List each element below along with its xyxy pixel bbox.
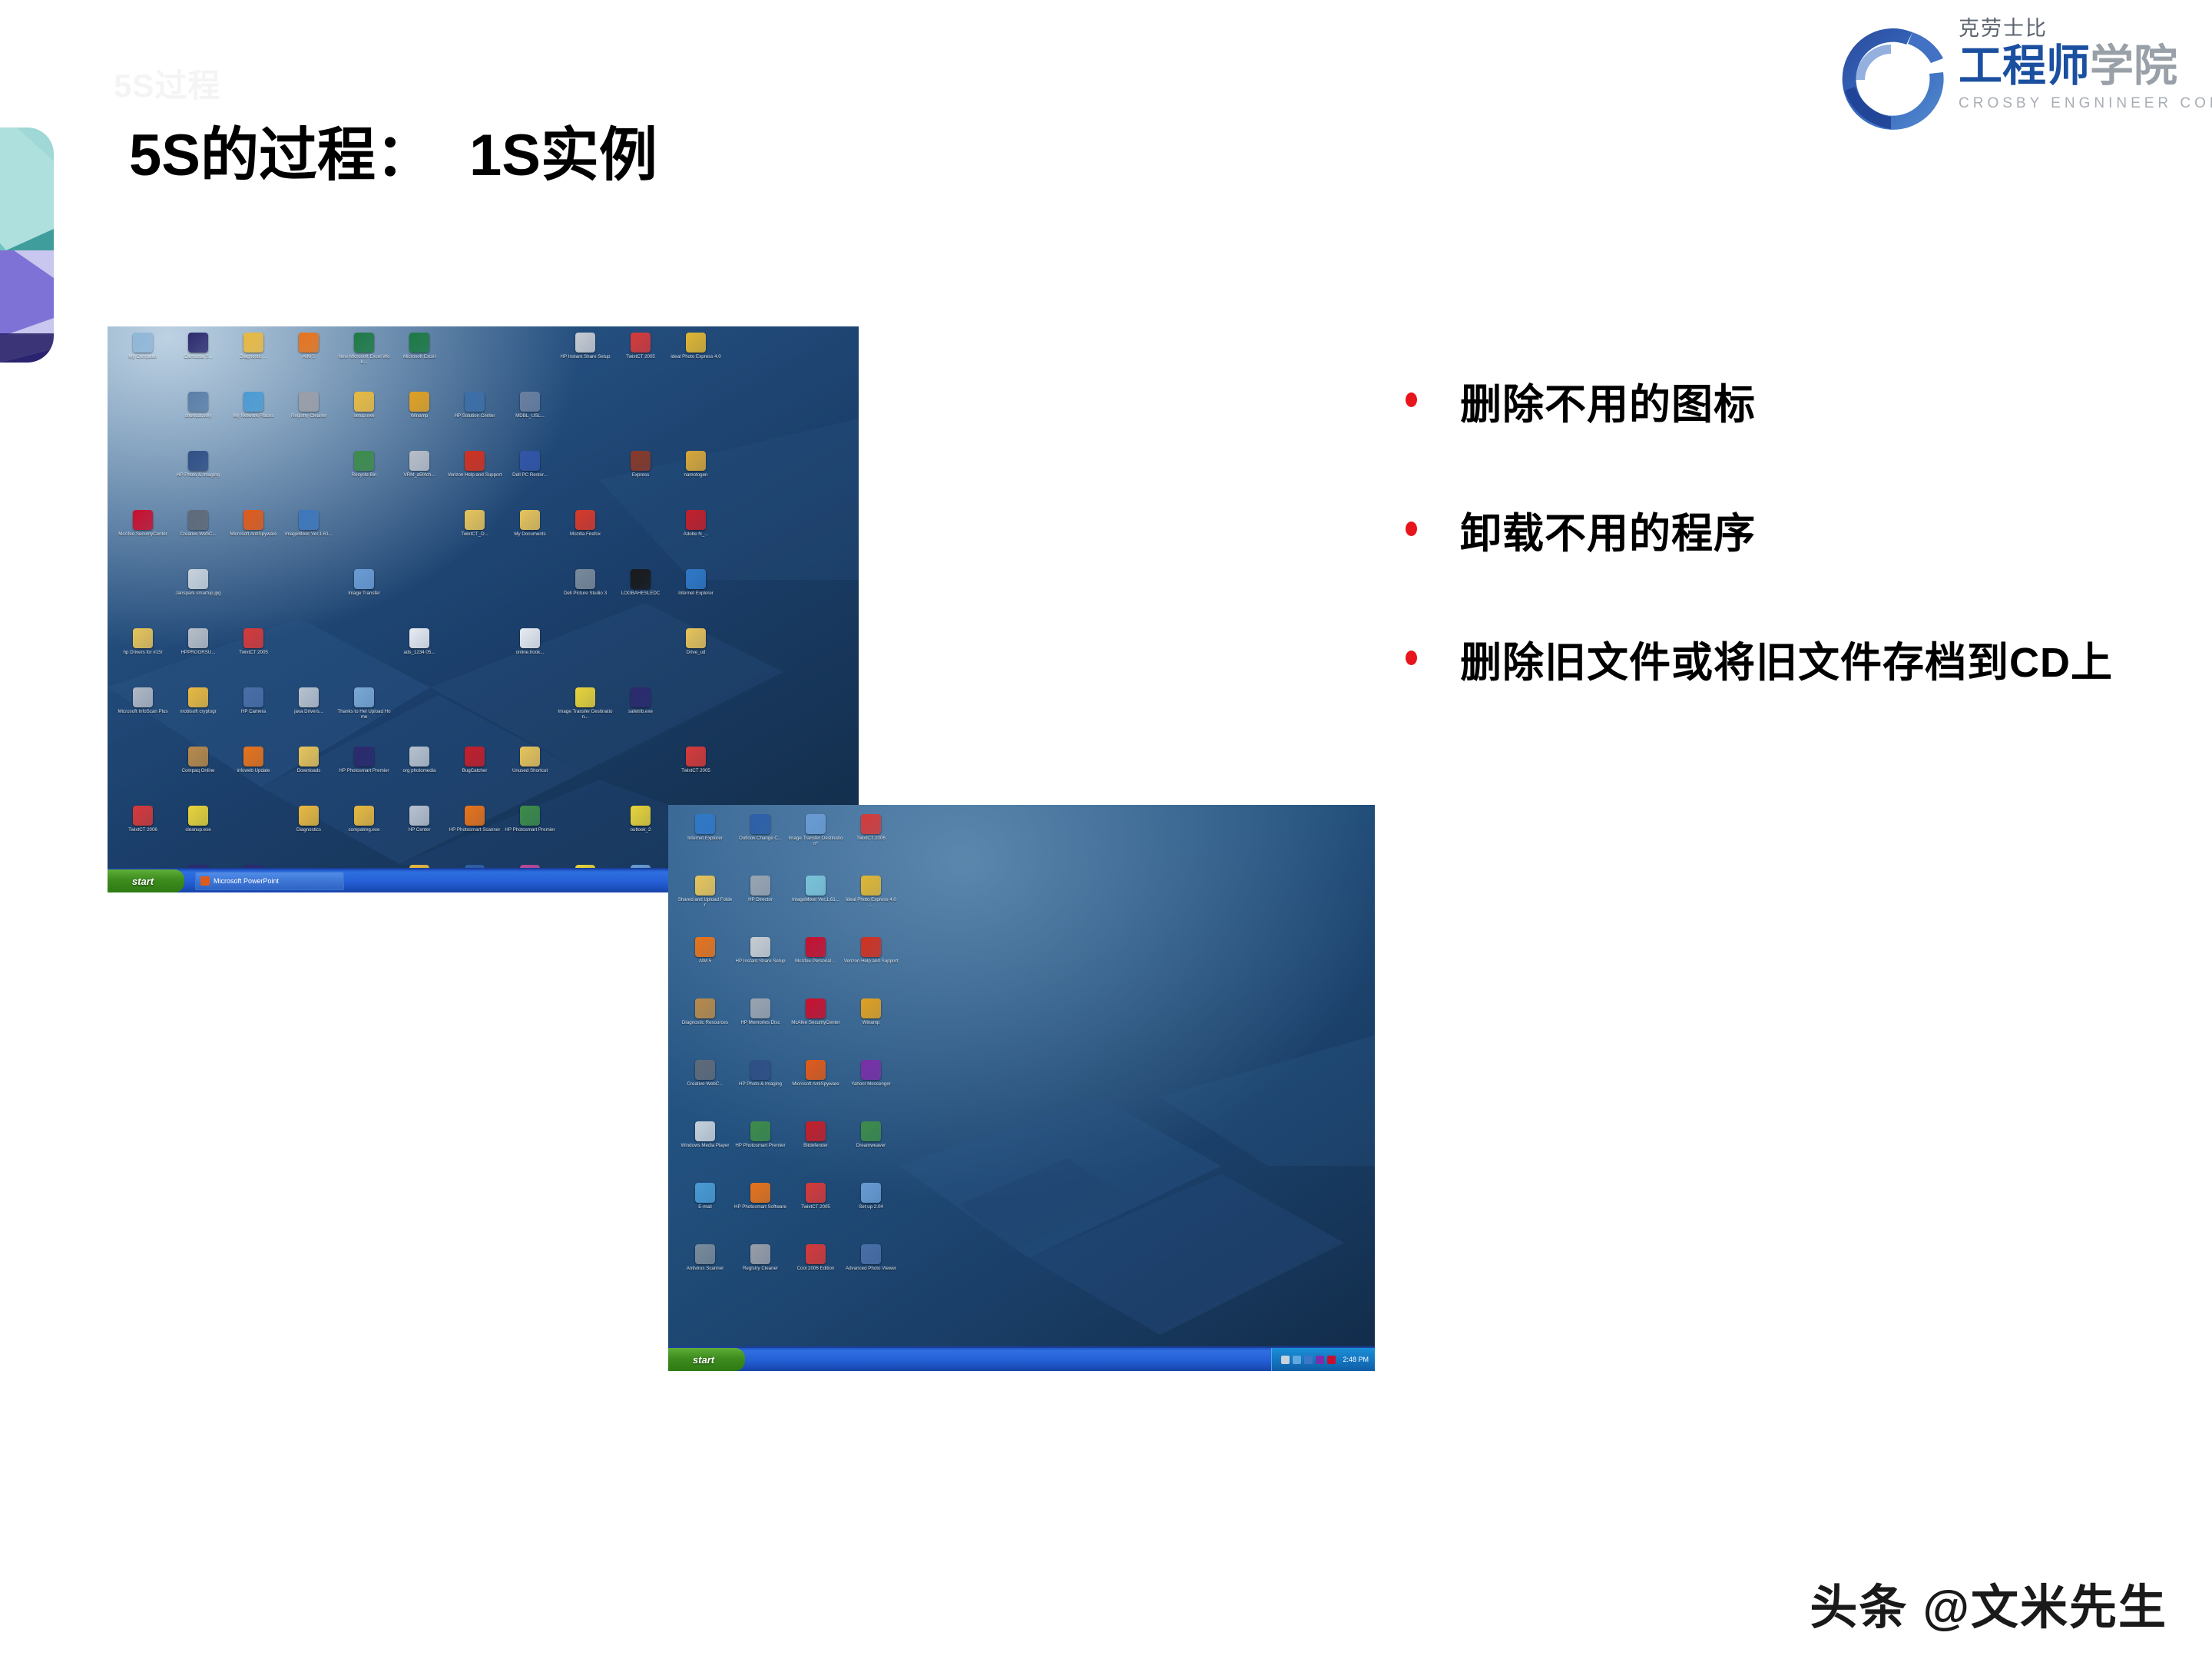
desktop-icon[interactable]: HP Center [392, 806, 447, 865]
desktop-icon-label: TwixtCT 2006 [115, 827, 171, 833]
desktop-icon[interactable]: TwixtCT 2006 [843, 814, 899, 876]
desktop-icon[interactable]: shortcut.only [171, 392, 226, 451]
desktop-icon[interactable]: HP Camera [226, 687, 281, 747]
desktop-icon-glyph [750, 814, 770, 834]
desktop-icon-glyph [631, 747, 651, 767]
desktop-icon-label: namotogen [668, 472, 724, 478]
desktop-icon-glyph [631, 392, 651, 412]
desktop-icon-glyph [806, 876, 826, 896]
desktop-icon[interactable]: McAfee SecurityCenter [115, 510, 171, 569]
desktop-icon[interactable]: HP Photo & Imaging [733, 1060, 788, 1121]
desktop-icon-glyph [299, 333, 319, 353]
desktop-icon[interactable]: LOGBAHESLEDC [613, 569, 668, 628]
desktop-icon-glyph [243, 510, 263, 530]
desktop-icon[interactable]: online.hook... [502, 628, 558, 687]
desktop-icon-glyph [133, 392, 153, 412]
desktop-icon-label: McAfee Personal ... [788, 959, 843, 964]
page-title-sub: 1S实例 [469, 123, 657, 188]
desktop-icon-label: Antivirus Scanner [677, 1266, 733, 1271]
desktop-icon[interactable]: Winamp [392, 392, 447, 451]
desktop-icon-label: HP Photosmart Premier [336, 768, 392, 773]
desktop-icon[interactable]: TwixtCT_D... [447, 510, 502, 569]
desktop-icon-glyph [133, 747, 153, 767]
desktop-icon-label: Microsoft AntiSpyware [788, 1081, 843, 1087]
desktop-icon[interactable]: HP Instant Share Setup [733, 937, 788, 998]
list-item: 删除不用的图标 [1406, 375, 2158, 436]
desktop-icon-label: Compaq Online [171, 768, 226, 773]
desktop-icon-glyph [520, 451, 540, 471]
desktop-icon-label: HP Photosmart Premier [502, 827, 558, 833]
desktop-icon[interactable]: Bitdefender [788, 1121, 843, 1183]
desktop-icon[interactable]: Image Transfer Destination... [558, 687, 613, 747]
desktop-icon[interactable]: outlook_2 [613, 806, 668, 865]
author-watermark: 头条 @文米先生 [1810, 1568, 2167, 1637]
desktop-icon-glyph [631, 569, 651, 589]
desktop-icon-glyph [354, 806, 374, 826]
desktop-icon[interactable]: Diagnostic ... [226, 333, 281, 392]
desktop-icon-glyph [575, 806, 595, 826]
desktop-icon-glyph [686, 687, 706, 707]
desktop-icon[interactable]: HP Photo & Imaging [171, 451, 226, 510]
desktop-icon-glyph [299, 510, 319, 530]
desktop-icon-glyph [188, 806, 208, 826]
desktop-icon[interactable]: Express [613, 451, 668, 510]
desktop-icon-label: ImageMixer Ver.1.61... [281, 531, 336, 537]
desktop-icon[interactable]: HPPROGRSU... [171, 628, 226, 687]
desktop-icon[interactable]: AIM 5 [677, 937, 733, 998]
desktop-icon[interactable]: Ideal Photo Express 4.0 ... [843, 876, 899, 937]
desktop-icon[interactable]: java Drivers... [281, 687, 336, 747]
desktop-icon[interactable]: Dell PC Restor... [502, 451, 558, 510]
desktop-icon[interactable]: My Network Places [226, 392, 281, 451]
desktop-icon[interactable]: McAfee SecurityCenter [788, 998, 843, 1060]
desktop-icon[interactable]: Downloads [281, 747, 336, 806]
desktop-icon-glyph [133, 510, 153, 530]
logo-cn-small: 克劳士比 [1959, 18, 2167, 39]
desktop-icon-label: Winamp [843, 1020, 899, 1025]
bullet-text: 删除旧文件或将旧文件存档到CD上 [1460, 633, 2113, 694]
left-decorative-shape [0, 127, 54, 363]
desktop-icon-glyph [409, 333, 429, 353]
desktop-icon[interactable]: ImageMixer Ver.1.61... [281, 510, 336, 569]
desktop-icon[interactable]: Registry Cleaner [281, 392, 336, 451]
desktop-icon[interactable]: Microsoft AntiSpyware [226, 510, 281, 569]
desktop-icon[interactable]: BugCatcher [447, 747, 502, 806]
desktop-icon-glyph [520, 806, 540, 826]
crosby-circle-swirl-icon [1830, 17, 1952, 140]
desktop-icon-glyph [188, 451, 208, 471]
desktop-icon-label: HP Solution Center [447, 413, 502, 419]
desktop-icon-label: safetrib.exe [613, 709, 668, 714]
desktop-icon-label: HPPROGRSU... [171, 650, 226, 655]
desktop-icon[interactable]: McAfee Personal ... [788, 937, 843, 998]
desktop-icon[interactable]: Yahoo! Messenger [843, 1060, 899, 1121]
desktop-icon-glyph [750, 1121, 770, 1141]
desktop-icon-glyph [299, 451, 319, 471]
desktop-icon-glyph [354, 333, 374, 353]
desktop-icon[interactable]: TwixtCT 2005 [613, 333, 668, 392]
desktop-icon-glyph [575, 333, 595, 353]
desktop-icon[interactable]: Compaq Online [171, 747, 226, 806]
logo-english: CROSBY ENGNINEER COLLEGE [1959, 95, 2167, 112]
desktop-icon[interactable]: namotogen [668, 451, 724, 510]
desktop-icon[interactable]: setup.exe [336, 392, 392, 451]
desktop-icon-glyph [299, 569, 319, 589]
desktop-icon[interactable]: Creative WebC... [171, 510, 226, 569]
desktop-icon-glyph [750, 876, 770, 896]
desktop-icon-glyph [243, 451, 263, 471]
desktop-icon-glyph [695, 814, 715, 834]
desktop-icon-glyph [133, 806, 153, 826]
desktop-icon-glyph [686, 569, 706, 589]
page-title-main: 5S的过程： [129, 123, 434, 188]
desktop-icon[interactable]: Camtasia S... [171, 333, 226, 392]
desktop-icon-glyph [750, 1183, 770, 1203]
powerpoint-icon [200, 876, 210, 886]
desktop-icon[interactable]: org photomedia [392, 747, 447, 806]
desktop-icon-label: Image Transfer [336, 591, 392, 596]
desktop-icon-glyph [631, 628, 651, 648]
desktop-icon-glyph [299, 392, 319, 412]
desktop-icon[interactable]: TwixtCT 2006 [115, 806, 171, 865]
desktop-icon-label: online.hook... [502, 650, 558, 655]
desktop-icon-empty [502, 687, 558, 747]
tray-icon[interactable] [1281, 1356, 1290, 1364]
desktop-icon-glyph [409, 628, 429, 648]
tray-icon[interactable] [1293, 1356, 1301, 1364]
desktop-icon-glyph [575, 510, 595, 530]
desktop-icon-empty [668, 392, 724, 451]
desktop-icon-label: BugCatcher [447, 768, 502, 773]
desktop-icon-glyph [243, 569, 263, 589]
desktop-icon[interactable]: Registry Cleaner [733, 1244, 788, 1306]
desktop-icon-glyph [409, 687, 429, 707]
desktop-icon-glyph [354, 451, 374, 471]
desktop-icon[interactable]: Diagnostic Resources [677, 998, 733, 1060]
desktop-icon[interactable]: Internet Explorer [677, 814, 733, 876]
desktop-icon-glyph [520, 333, 540, 353]
desktop-icon[interactable]: Cool 2006 Edition [788, 1244, 843, 1306]
desktop-icon-glyph [861, 814, 881, 834]
desktop-icon-label: setup.exe [336, 413, 392, 419]
desktop-icon-glyph [750, 937, 770, 957]
desktop-icon-glyph [465, 333, 485, 353]
desktop-icon-glyph [575, 569, 595, 589]
desktop-icon[interactable]: Set up 2.04 [843, 1183, 899, 1244]
desktop-icon-empty [447, 687, 502, 747]
desktop-icon-label: Downloads [281, 768, 336, 773]
desktop-icon-label: Thanks to Hel Upload Home [336, 709, 392, 720]
desktop-icon[interactable]: HP Photosmart Premier [502, 806, 558, 865]
desktop-icon[interactable]: mobisoft cryptogr [171, 687, 226, 747]
desktop-icon[interactable]: Microsoft InfoScan Plus [115, 687, 171, 747]
desktop-icon[interactable]: Mozilla Firefox [558, 510, 613, 569]
desktop-icon[interactable]: HP Director [733, 876, 788, 937]
desktop-icon-label: Microsoft InfoScan Plus [115, 709, 171, 714]
desktop-icon-glyph [695, 876, 715, 896]
desktop-icon-glyph [861, 876, 881, 896]
desktop-icon-empty [558, 747, 613, 806]
desktop-icon-glyph [631, 510, 651, 530]
desktop-icon-label: compatreg.exe [336, 827, 392, 833]
desktop-icon-empty [613, 628, 668, 687]
desktop-icon[interactable]: infoweb Update [226, 747, 281, 806]
desktop-icon-glyph [520, 510, 540, 530]
desktop-icon[interactable]: Verizon Help and Support [447, 451, 502, 510]
desktop-icon-glyph [861, 1183, 881, 1203]
desktop-icon-glyph [631, 451, 651, 471]
desktop-icon-label: hp Drivers for #15/ [115, 650, 171, 655]
desktop-icon-label: Internet Explorer [677, 836, 733, 841]
desktop-icon[interactable]: ads_1234 05... [392, 628, 447, 687]
logo-cn-big: 工程师学院 [1959, 45, 2167, 88]
desktop-icon-glyph [354, 747, 374, 767]
desktop-icon-empty [502, 333, 558, 392]
desktop-icon[interactable]: Image Transfer [336, 569, 392, 628]
desktop-icon-empty [558, 806, 613, 865]
desktop-icon-empty [281, 569, 336, 628]
desktop-icon-label: HP Photo & Imaging [171, 472, 226, 478]
desktop-icon[interactable]: Dreamweaver [843, 1121, 899, 1183]
desktop-icon-empty [613, 747, 668, 806]
desktop-icon-label: My Computer [115, 354, 171, 359]
page-title: 5S的过程：1S实例 [129, 125, 657, 187]
desktop-icon[interactable]: E-mail [677, 1183, 733, 1244]
desktop-icon[interactable]: AIM 5 [281, 333, 336, 392]
desktop-icon-label: ads_1234 05... [392, 650, 447, 655]
desktop-icon-empty [115, 392, 171, 451]
desktop-icon-label: Diagnostics [281, 827, 336, 833]
desktop-icon[interactable]: Diagnostics [281, 806, 336, 865]
tray-icon[interactable] [1316, 1356, 1324, 1364]
desktop-icon-glyph [520, 628, 540, 648]
desktop-icon[interactable]: Winamp [843, 998, 899, 1060]
desktop-icon[interactable]: Microsoft AntiSpyware [788, 1060, 843, 1121]
desktop-icon-label: Unused Shortcut [502, 768, 558, 773]
desktop-icon-empty [281, 628, 336, 687]
desktop-icon[interactable]: cleanup.exe [171, 806, 226, 865]
desktop-icon-glyph [133, 451, 153, 471]
desktop-icon[interactable]: VRM_a5f4ch... [392, 451, 447, 510]
desktop-icon-glyph [520, 569, 540, 589]
desktop-icon[interactable]: Drive_ud [668, 628, 724, 687]
desktop-icon-empty [447, 569, 502, 628]
tray-icon[interactable] [1304, 1356, 1313, 1364]
desktop-icon-glyph [243, 806, 263, 826]
desktop-icon-label: My Documents [502, 531, 558, 537]
desktop-icon-empty [226, 451, 281, 510]
desktop-icon-label: TwixtCT_D... [447, 531, 502, 537]
desktop-icon[interactable]: New Microsoft Excel Wok... [336, 333, 392, 392]
desktop-icon-label: Image Transfer Destination* [788, 836, 843, 847]
desktop-icon-glyph [188, 628, 208, 648]
desktop-icon-label: HP Center [392, 827, 447, 833]
desktop-icon-glyph [520, 747, 540, 767]
desktop-icon[interactable]: TwixtCT 2005 [226, 628, 281, 687]
start-button-after[interactable]: start [668, 1348, 745, 1371]
desktop-icon-glyph [750, 998, 770, 1018]
desktop-icon-label: McAfee SecurityCenter [115, 531, 171, 537]
desktop-icon-glyph [686, 451, 706, 471]
desktop-icon[interactable]: HP Instant Share Setup [558, 333, 613, 392]
desktop-icon[interactable]: Janspark smartup.jpg [171, 569, 226, 628]
desktop-icon[interactable]: Thanks to Hel Upload Home [336, 687, 392, 747]
start-button-before[interactable]: start [108, 869, 184, 892]
desktop-icon-glyph [861, 1060, 881, 1080]
desktop-icon-label: HP Instant Share Setup [733, 959, 788, 964]
desktop-icon-label: Windows Media Player [677, 1143, 733, 1148]
desktop-icon-glyph [861, 937, 881, 957]
desktop-icon-glyph [354, 687, 374, 707]
desktop-icon[interactable]: Creative WebC... [677, 1060, 733, 1121]
desktop-icon-glyph [806, 1183, 826, 1203]
desktop-icon-glyph [299, 687, 319, 707]
taskbar-item-powerpoint[interactable]: Microsoft PowerPoint [195, 872, 344, 890]
desktop-icon-glyph [520, 392, 540, 412]
desktop-icon-label: Verizon Help and Support [843, 959, 899, 964]
desktop-icon-label: TwixtCT 2005 [788, 1204, 843, 1210]
desktop-icon[interactable]: TwixtCT 2005 [668, 747, 724, 806]
desktop-icon-glyph [465, 687, 485, 707]
desktop-icon[interactable]: Dell Picture Studio 3 [558, 569, 613, 628]
desktop-icon-label: Winamp [392, 413, 447, 419]
desktop-icon[interactable]: Recycle Bin [336, 451, 392, 510]
desktop-icon-label: Adobe N_... [668, 531, 724, 537]
desktop-icon[interactable]: Advanced Photo Viewer [843, 1244, 899, 1306]
desktop-icon[interactable]: My Documents [502, 510, 558, 569]
tray-icon[interactable] [1327, 1356, 1336, 1364]
desktop-icon-label: TwixtCT 2005 [226, 650, 281, 655]
desktop-icon-glyph [243, 392, 263, 412]
desktop-icon[interactable]: TwixtCT 2005 [788, 1183, 843, 1244]
desktop-icon-empty [115, 569, 171, 628]
desktop-icon-label: MDBL_USL... [502, 413, 558, 419]
desktop-icon-glyph [409, 451, 429, 471]
bullet-dot-icon [1406, 522, 1417, 536]
desktop-icon-glyph [409, 392, 429, 412]
desktop-icon[interactable]: Verizon Help and Support [843, 937, 899, 998]
desktop-icon-glyph [806, 998, 826, 1018]
desktop-icon-empty [226, 569, 281, 628]
desktop-icon-empty [668, 687, 724, 747]
desktop-icon-empty [558, 451, 613, 510]
desktop-icon-label: Image Transfer Destination... [558, 709, 613, 720]
desktop-icon-grid-after: Internet ExplorerOutlook Change C...Imag… [677, 814, 899, 1306]
desktop-icon[interactable]: Image Transfer Destination* [788, 814, 843, 876]
desktop-icon-label: Registry Cleaner [281, 413, 336, 419]
desktop-icon-empty [447, 628, 502, 687]
desktop-icon-glyph [750, 1060, 770, 1080]
desktop-icon-empty [392, 569, 447, 628]
desktop-icon[interactable]: Microsoft Excel [392, 333, 447, 392]
desktop-icon-label: Registry Cleaner [733, 1266, 788, 1271]
desktop-icon-label: HP Photo & Imaging [733, 1081, 788, 1087]
desktop-icon-label: Cool 2006 Edition [788, 1266, 843, 1271]
desktop-icon[interactable]: MDBL_USL... [502, 392, 558, 451]
desktop-icon-empty [115, 747, 171, 806]
desktop-icon[interactable]: ideal Photo Express 4.0 [668, 333, 724, 392]
desktop-icon[interactable]: HP Photosmart Premier [336, 747, 392, 806]
desktop-icon[interactable]: Windows Media Player [677, 1121, 733, 1183]
desktop-icon-glyph [861, 998, 881, 1018]
bullet-list: 删除不用的图标 卸载不用的程序 删除旧文件或将旧文件存档到CD上 [1406, 375, 2158, 762]
desktop-icon[interactable]: Unused Shortcut [502, 747, 558, 806]
desktop-icon-label: Outlook Change C... [733, 836, 788, 841]
desktop-icon[interactable]: Adobe N_... [668, 510, 724, 569]
desktop-icon-label: Janspark smartup.jpg [171, 591, 226, 596]
desktop-icon-glyph [188, 392, 208, 412]
desktop-icon-glyph [188, 569, 208, 589]
desktop-icon-label: HP Photosmart Scanner [447, 827, 502, 833]
desktop-icon-label: Shared and Upload Folder [677, 897, 733, 909]
desktop-icon-glyph [299, 628, 319, 648]
desktop-icon[interactable]: Shared and Upload Folder [677, 876, 733, 937]
desktop-icon-label: Dell PC Restor... [502, 472, 558, 478]
brand-logo: 克劳士比 工程师学院 CROSBY ENGNINEER COLLEGE [1830, 11, 2167, 147]
desktop-icon[interactable]: compatreg.exe [336, 806, 392, 865]
desktop-icon[interactable]: safetrib.exe [613, 687, 668, 747]
desktop-icon-glyph [465, 451, 485, 471]
desktop-icon-label: mobisoft cryptogr [171, 709, 226, 714]
desktop-icon[interactable]: HP Photosmart Software [733, 1183, 788, 1244]
desktop-icon-label: cleanup.exe [171, 827, 226, 833]
desktop-icon[interactable]: ImageMixer Ver.1.61... [788, 876, 843, 937]
desktop-icon[interactable]: HP Photosmart Premier [733, 1121, 788, 1183]
desktop-icon-glyph [299, 747, 319, 767]
desktop-icon-glyph [188, 687, 208, 707]
desktop-icon-label: Mozilla Firefox [558, 531, 613, 537]
desktop-icon-label: Bitdefender [788, 1143, 843, 1148]
logo-cn-big-gray: 学院 [2090, 41, 2177, 91]
desktop-icon-label: E-mail [677, 1204, 733, 1210]
desktop-icon[interactable]: HP Solution Center [447, 392, 502, 451]
desktop-icon-label: ideal Photo Express 4.0 [668, 354, 724, 359]
desktop-icon-label: Advanced Photo Viewer [843, 1266, 899, 1271]
desktop-icon-label: infoweb Update [226, 768, 281, 773]
desktop-icon-label: HP Director [733, 897, 788, 902]
desktop-icon-glyph [243, 687, 263, 707]
desktop-icon[interactable]: Outlook Change C... [733, 814, 788, 876]
desktop-icon-label: HP Photosmart Software [733, 1204, 788, 1210]
desktop-icon-glyph [695, 1183, 715, 1203]
system-tray-after[interactable]: 2:48 PM [1271, 1348, 1375, 1371]
desktop-icon-label: HP Instant Share Setup [558, 354, 613, 359]
desktop-icon-glyph [409, 806, 429, 826]
desktop-icon[interactable]: HP Memories Disc [733, 998, 788, 1060]
desktop-icon[interactable]: My Computer [115, 333, 171, 392]
desktop-icon-label: Dreamweaver [843, 1143, 899, 1148]
desktop-icon-glyph [133, 687, 153, 707]
desktop-icon-label: TwixtCT 2006 [843, 836, 899, 841]
desktop-icon-glyph [575, 687, 595, 707]
desktop-icon-glyph [631, 333, 651, 353]
desktop-icon-empty [447, 333, 502, 392]
desktop-icon-glyph [686, 510, 706, 530]
desktop-icon-glyph [465, 392, 485, 412]
taskbar-after[interactable]: start 2:48 PM [668, 1346, 1375, 1371]
desktop-icon-glyph [686, 392, 706, 412]
desktop-icon-label: outlook_2 [613, 827, 668, 833]
desktop-icon-glyph [409, 747, 429, 767]
desktop-icon[interactable]: hp Drivers for #15/ [115, 628, 171, 687]
desktop-icon-glyph [806, 1060, 826, 1080]
desktop-icon-glyph [409, 569, 429, 589]
desktop-icon-empty [502, 569, 558, 628]
desktop-icon[interactable]: Internet Explorer [668, 569, 724, 628]
logo-wordmark: 克劳士比 工程师学院 CROSBY ENGNINEER COLLEGE [1959, 18, 2167, 112]
desktop-icon[interactable]: Antivirus Scanner [677, 1244, 733, 1306]
desktop-icon[interactable]: HP Photosmart Scanner [447, 806, 502, 865]
